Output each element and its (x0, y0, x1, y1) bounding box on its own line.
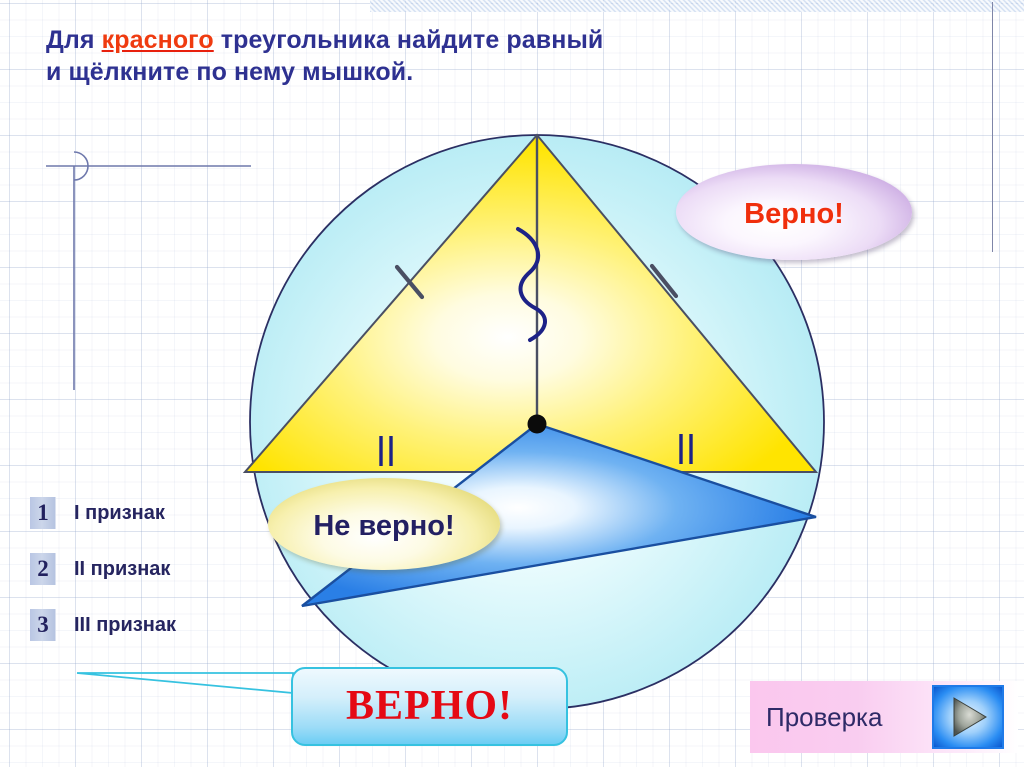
midpoint-dot (528, 415, 547, 434)
play-triangle-icon[interactable] (932, 685, 1004, 749)
criteria-badge-2: 2 (30, 553, 56, 585)
slide-canvas: Для красного треугольника найдите равный… (0, 0, 1024, 767)
criteria-badge-1: 1 (30, 497, 56, 529)
verdict-callout[interactable]: ВЕРНО! (291, 667, 568, 746)
check-button-label: Проверка (766, 702, 882, 733)
feedback-bubble-correct-label: Верно! (744, 198, 844, 231)
criteria-list: 1 I признак 2 II признак 3 III признак (30, 496, 176, 664)
feedback-bubble-incorrect[interactable]: Не верно! (268, 478, 500, 570)
feedback-bubble-incorrect-label: Не верно! (313, 510, 454, 543)
criteria-item-3[interactable]: 3 III признак (30, 608, 176, 642)
criteria-label-2: II признак (74, 558, 170, 581)
criteria-badge-3: 3 (30, 609, 56, 641)
verdict-callout-label: ВЕРНО! (346, 682, 513, 730)
criteria-item-1[interactable]: 1 I признак (30, 496, 176, 530)
criteria-label-3: III признак (74, 614, 176, 637)
criteria-item-2[interactable]: 2 II признак (30, 552, 176, 586)
criteria-label-1: I признак (74, 502, 165, 525)
feedback-bubble-correct[interactable]: Верно! (676, 164, 912, 260)
callout-pointer-tail (77, 673, 293, 693)
